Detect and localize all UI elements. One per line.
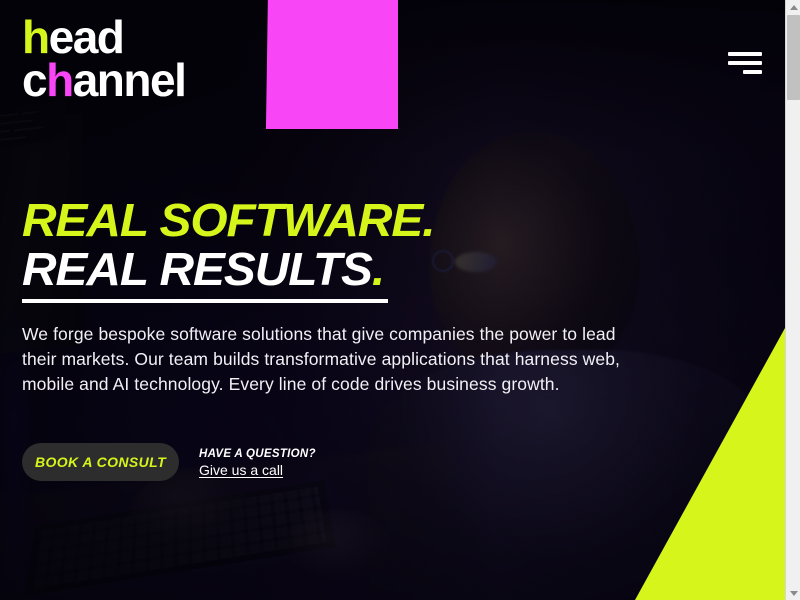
- brand-logo-line-1: head: [22, 18, 185, 57]
- hamburger-bar-1: [728, 52, 762, 56]
- hero-headline-line-1: REAL SOFTWARE.: [22, 196, 708, 245]
- hero-cta-aside: HAVE A QUESTION? Give us a call: [199, 448, 316, 480]
- vertical-scrollbar[interactable]: [785, 0, 800, 600]
- brand-logo[interactable]: head channel: [22, 18, 185, 99]
- brand-logo-line-2: channel: [22, 61, 185, 100]
- give-us-a-call-link[interactable]: Give us a call: [199, 462, 283, 478]
- hero-headline-line-2-text: REAL RESULTS: [22, 243, 372, 295]
- hamburger-bar-2: [728, 61, 762, 65]
- scroll-down-arrow-icon[interactable]: [786, 586, 800, 600]
- hamburger-menu-icon[interactable]: [728, 52, 762, 76]
- hamburger-bar-3: [743, 70, 762, 74]
- scrollbar-thumb[interactable]: [787, 15, 800, 100]
- logo-h-magenta: h: [46, 54, 73, 106]
- hero-headline-accent-dot: .: [372, 243, 384, 295]
- site-header: head channel: [0, 0, 785, 130]
- hero-headline-line-2: REAL RESULTS.: [22, 245, 384, 294]
- have-a-question-label: HAVE A QUESTION?: [199, 448, 316, 460]
- logo-annel: annel: [73, 54, 186, 106]
- hero-paragraph: We forge bespoke software solutions that…: [22, 322, 628, 396]
- hero-headline-underline: [22, 299, 388, 303]
- hero-section: REAL SOFTWARE. REAL RESULTS.: [22, 196, 682, 294]
- scroll-up-arrow-icon[interactable]: [786, 0, 800, 14]
- page-root: head channel REAL SOFTWARE. REAL RESULTS…: [0, 0, 800, 600]
- logo-c: c: [22, 54, 46, 106]
- book-a-consult-button[interactable]: BOOK A CONSULT: [22, 443, 179, 481]
